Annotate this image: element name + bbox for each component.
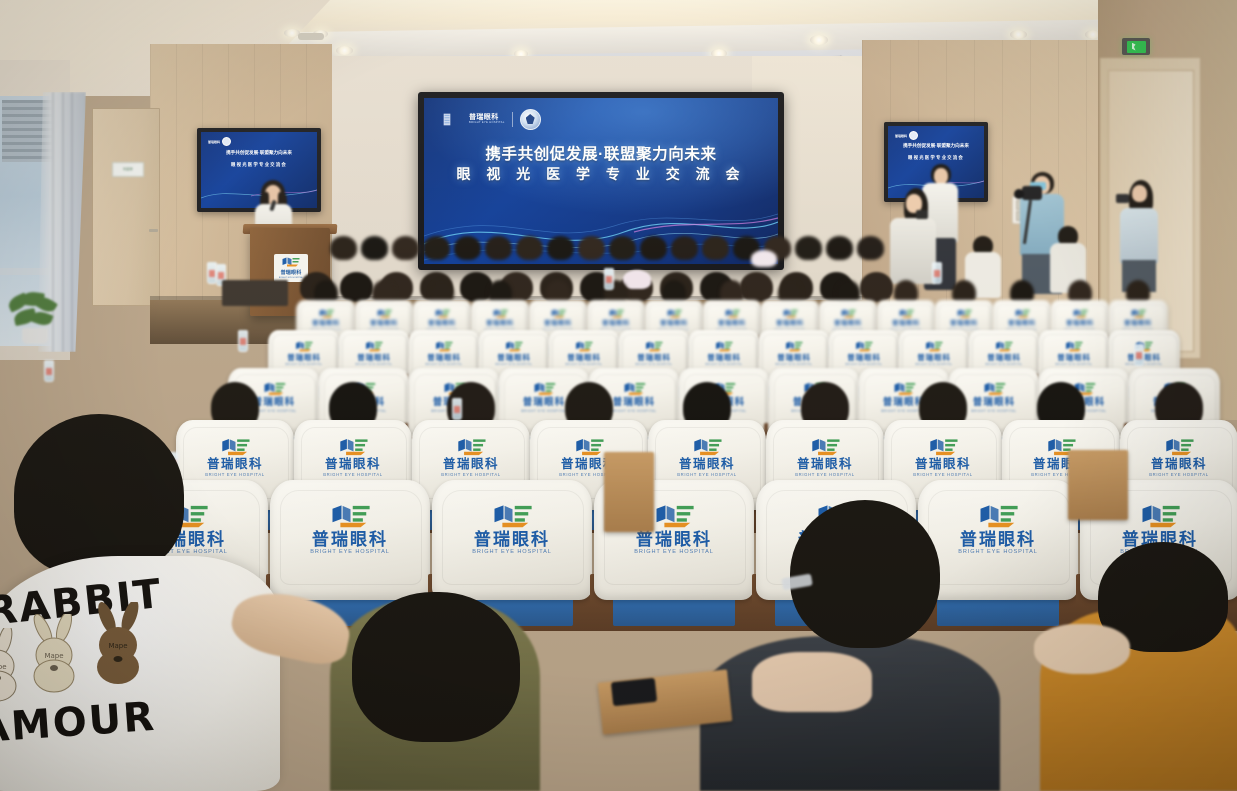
- hospital-mark-icon: [982, 382, 1007, 396]
- water-bottle: [44, 360, 54, 382]
- chair-brand-en: BRIGHT EYE HOSPITAL: [677, 473, 737, 477]
- clasped-hands: [752, 652, 872, 712]
- attendee-arm: [1034, 624, 1130, 674]
- rabbit-graphic: Mape: [26, 614, 88, 694]
- hospital-mark-icon: [976, 504, 1021, 529]
- camera-icon: [916, 210, 928, 219]
- chair-brand-en: BRIGHT EYE HOSPITAL: [846, 364, 883, 367]
- side-right-subline: 眼视光医学专业交流会: [888, 155, 984, 161]
- screen-logo-row: 普瑞眼科 BRIGHT EYE HOSPITAL: [442, 109, 541, 130]
- chair-brand-cn: 普瑞眼科: [443, 458, 499, 471]
- partner-emblem-icon: [222, 137, 231, 146]
- hospital-mark-icon: [281, 257, 301, 268]
- seat-with-cover[interactable]: 普瑞眼科 BRIGHT EYE HOSPITAL: [270, 480, 430, 600]
- door-plate: 科室牌: [112, 162, 144, 177]
- hospital-mark-icon: [854, 341, 874, 352]
- water-bottle: [932, 262, 942, 284]
- downlight: [810, 35, 828, 45]
- chair-logo: 普瑞眼科 BRIGHT EYE HOSPITAL: [648, 438, 766, 477]
- chair-brand-en: BRIGHT EYE HOSPITAL: [472, 550, 552, 556]
- front-table: [222, 280, 288, 306]
- attendee-head: [14, 414, 184, 576]
- svg-text:Mape: Mape: [108, 642, 127, 650]
- dslr-camera-icon: [1022, 186, 1042, 200]
- spotlight-cluster: [298, 33, 324, 40]
- hospital-mark-icon: [318, 309, 335, 319]
- svg-text:Mape: Mape: [44, 652, 63, 660]
- tshirt-bottom-word: AMOUR: [0, 694, 157, 752]
- hospital-mark-icon: [550, 309, 567, 319]
- water-bottle: [452, 398, 462, 420]
- chair-logo: 普瑞眼科 BRIGHT EYE HOSPITAL: [1120, 438, 1237, 477]
- hospital-mark-icon: [328, 504, 373, 529]
- seated-attendee: [889, 252, 919, 279]
- seat-with-cover[interactable]: 普瑞眼科 BRIGHT EYE HOSPITAL: [432, 480, 592, 600]
- hospital-mark-icon: [927, 438, 960, 456]
- water-bottle: [604, 268, 614, 290]
- side-left-headline: 携手共创促发展·联盟聚力向未来: [201, 150, 317, 156]
- hospital-mark-icon: [956, 309, 973, 319]
- chair-brand-cn: 普瑞眼科: [636, 531, 712, 548]
- door-left[interactable]: [92, 108, 160, 306]
- fold-out-desk: [604, 452, 654, 532]
- hospital-mark-icon: [219, 438, 252, 456]
- hospital-mark-icon: [442, 111, 462, 128]
- hospital-mark-icon: [532, 382, 557, 396]
- chair-brand-en: BRIGHT EYE HOSPITAL: [521, 410, 566, 413]
- chair-brand-en: BRIGHT EYE HOSPITAL: [323, 473, 383, 477]
- chair-brand-cn: 普瑞眼科: [253, 398, 296, 408]
- conference-hall-photo: 科室牌 普瑞眼科 BRIGHT EYE HOSPITAL: [0, 0, 1237, 791]
- potted-plant: [6, 292, 62, 344]
- hospital-mark-icon: [504, 341, 524, 352]
- camera-icon: [1116, 194, 1129, 203]
- chair-brand-cn: 普瑞眼科: [679, 458, 735, 471]
- podium-brand-cn: 普瑞眼科: [281, 269, 302, 276]
- hospital-mark-icon: [924, 341, 944, 352]
- hospital-mark-icon: [294, 341, 314, 352]
- water-bottle: [238, 330, 248, 352]
- chair-brand-cn: 普瑞眼科: [207, 458, 263, 471]
- chair-brand-en: BRIGHT EYE HOSPITAL: [634, 550, 714, 556]
- hospital-mark-icon: [898, 309, 915, 319]
- logo-divider: [512, 112, 513, 127]
- chair-logo: 普瑞眼科 BRIGHT EYE HOSPITAL: [918, 504, 1078, 556]
- door-handle[interactable]: [149, 229, 158, 232]
- chair-brand-en: BRIGHT EYE HOSPITAL: [566, 364, 603, 367]
- hospital-mark-icon: [337, 438, 370, 456]
- chair-logo: 普瑞眼科 BRIGHT EYE HOSPITAL: [432, 504, 592, 556]
- hospital-mark-icon: [1163, 438, 1196, 456]
- hospital-mark-icon: [652, 504, 697, 529]
- side-left-brand: 普瑞眼科: [208, 140, 220, 144]
- chair-brand-cn: 普瑞眼科: [950, 321, 978, 327]
- side-left-subline: 眼视光医学专业交流会: [201, 162, 317, 168]
- svg-text:Mape: Mape: [0, 663, 7, 671]
- water-bottle: [1134, 344, 1144, 366]
- smartphone-on-desk: [611, 678, 657, 706]
- screen-subline: 眼 视 光 医 学 专 业 交 流 会: [424, 164, 778, 184]
- chair-brand-cn: 普瑞眼科: [325, 458, 381, 471]
- chair-brand-cn: 普瑞眼科: [892, 321, 920, 327]
- foreground-tshirt: RABBIT AMOUR Mape Mape: [0, 556, 280, 791]
- side-right-brand: 普瑞眼科: [895, 134, 907, 138]
- chair-brand-en: BRIGHT EYE HOSPITAL: [1149, 473, 1209, 477]
- side-left-logo: 普瑞眼科: [208, 137, 231, 146]
- chair-brand-cn: 普瑞眼科: [847, 354, 881, 362]
- screen-brand-en: BRIGHT EYE HOSPITAL: [469, 122, 505, 125]
- chair-logo: 普瑞眼科 BRIGHT EYE HOSPITAL: [766, 438, 884, 477]
- chair-brand-en: BRIGHT EYE HOSPITAL: [310, 550, 390, 556]
- hospital-mark-icon: [622, 382, 647, 396]
- hospital-mark-icon: [573, 438, 606, 456]
- chair-logo: 普瑞眼科 BRIGHT EYE HOSPITAL: [412, 438, 530, 477]
- chair-brand-cn: 普瑞眼科: [960, 531, 1036, 548]
- hospital-mark-icon: [608, 309, 625, 319]
- hospital-mark-icon: [490, 504, 535, 529]
- fold-out-desk: [1068, 450, 1128, 520]
- chair-brand-cn: 普瑞眼科: [523, 398, 566, 408]
- chair-logo: 普瑞眼科 BRIGHT EYE HOSPITAL: [176, 438, 294, 477]
- hospital-mark-icon: [262, 382, 287, 396]
- partner-emblem-icon: [520, 109, 541, 130]
- chair-brand-en: BRIGHT EYE HOSPITAL: [958, 550, 1038, 556]
- screen-headline: 携手共创促发展·联盟聚力向未来: [424, 142, 778, 164]
- downlight: [336, 46, 353, 55]
- chair-brand-cn: 普瑞眼科: [474, 531, 550, 548]
- chair-brand-en: BRIGHT EYE HOSPITAL: [611, 410, 656, 413]
- chair-brand-cn: 普瑞眼科: [544, 321, 572, 327]
- chair-logo: 普瑞眼科 BRIGHT EYE HOSPITAL: [294, 438, 412, 477]
- standing-attendee: [1118, 180, 1160, 292]
- downlight: [1010, 30, 1027, 39]
- chair-logo: 普瑞眼科 BRIGHT EYE HOSPITAL: [884, 438, 1002, 477]
- chair-brand-en: BRIGHT EYE HOSPITAL: [971, 410, 1016, 413]
- chair-brand-cn: 普瑞眼科: [973, 398, 1016, 408]
- hospital-mark-icon: [1138, 504, 1183, 529]
- exit-sign-icon: [1122, 38, 1150, 55]
- rabbit-graphic: Mape: [88, 602, 154, 686]
- attendee-head: [352, 592, 520, 742]
- chair-brand-en: BRIGHT EYE HOSPITAL: [913, 473, 973, 477]
- side-right-logo: 普瑞眼科: [895, 131, 918, 140]
- side-right-headline: 携手共创促发展·联盟聚力向未来: [888, 143, 984, 149]
- chair-brand-cn: 普瑞眼科: [1151, 458, 1207, 471]
- chair-brand-en: BRIGHT EYE HOSPITAL: [441, 473, 501, 477]
- chair-brand-cn: 普瑞眼科: [567, 354, 601, 362]
- seat-with-cover[interactable]: 普瑞眼科 BRIGHT EYE HOSPITAL: [918, 480, 1078, 600]
- hospital-mark-icon: [455, 438, 488, 456]
- door-plate-label: 科室牌: [123, 168, 133, 171]
- chair-logo: 普瑞眼科 BRIGHT EYE HOSPITAL: [270, 504, 430, 556]
- chair-brand-cn: 普瑞眼科: [602, 321, 630, 327]
- chair-brand-cn: 普瑞眼科: [915, 458, 971, 471]
- attendee-head: [790, 500, 940, 648]
- chair-brand-cn: 普瑞眼科: [312, 531, 388, 548]
- partner-emblem-icon: [909, 131, 918, 140]
- hospital-mark-icon: [574, 341, 594, 352]
- chair-brand-cn: 普瑞眼科: [613, 398, 656, 408]
- chair-brand-en: BRIGHT EYE HOSPITAL: [205, 473, 265, 477]
- chair-brand-cn: 普瑞眼科: [797, 458, 853, 471]
- hospital-mark-icon: [892, 382, 917, 396]
- hospital-mark-icon: [691, 438, 724, 456]
- hospital-mark-icon: [809, 438, 842, 456]
- chair-brand-en: BRIGHT EYE HOSPITAL: [795, 473, 855, 477]
